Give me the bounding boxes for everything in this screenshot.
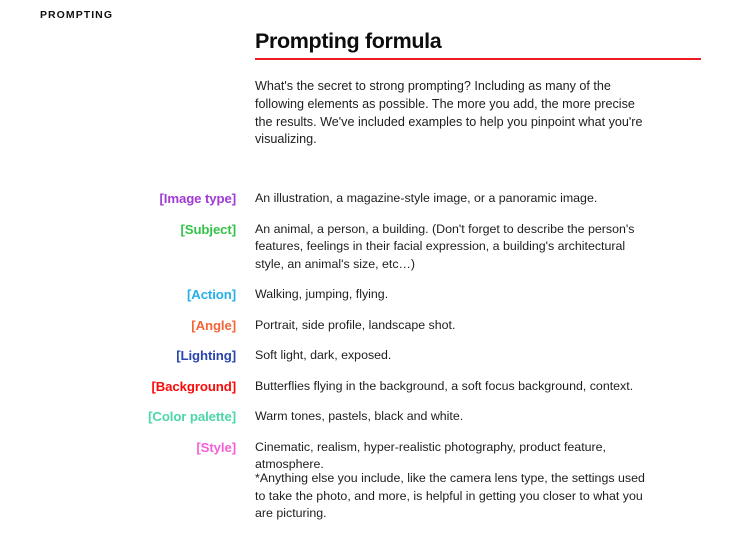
formula-row-label: [Color palette]: [0, 408, 236, 426]
prompting-formula-page: PROMPTING Prompting formula What's the s…: [0, 0, 750, 550]
formula-row: [Subject]An animal, a person, a building…: [0, 221, 750, 274]
formula-row: [Image type]An illustration, a magazine-…: [0, 190, 750, 208]
formula-row-description: Cinematic, realism, hyper-realistic phot…: [236, 439, 656, 474]
formula-row-description: Walking, jumping, flying.: [236, 286, 656, 304]
formula-row-description: Warm tones, pastels, black and white.: [236, 408, 656, 426]
formula-row-description: Portrait, side profile, landscape shot.: [236, 317, 656, 335]
formula-row-description: Soft light, dark, exposed.: [236, 347, 656, 365]
formula-row: [Lighting]Soft light, dark, exposed.: [0, 347, 750, 365]
formula-row-label: [Angle]: [0, 317, 236, 335]
formula-row-label: [Image type]: [0, 190, 236, 208]
formula-row-label: [Style]: [0, 439, 236, 457]
intro-paragraph: What's the secret to strong prompting? I…: [255, 78, 655, 149]
formula-row: [Action]Walking, jumping, flying.: [0, 286, 750, 304]
title-underline-rule: [255, 58, 701, 60]
footnote-text: *Anything else you include, like the cam…: [255, 470, 649, 523]
formula-row-label: [Lighting]: [0, 347, 236, 365]
formula-row: [Style]Cinematic, realism, hyper-realist…: [0, 439, 750, 474]
header-block: Prompting formula What's the secret to s…: [255, 28, 701, 149]
formula-row: [Color palette]Warm tones, pastels, blac…: [0, 408, 750, 426]
formula-rows-list: [Image type]An illustration, a magazine-…: [0, 190, 750, 487]
formula-row: [Background]Butterflies flying in the ba…: [0, 378, 750, 396]
formula-row-label: [Subject]: [0, 221, 236, 239]
section-eyebrow-label: PROMPTING: [40, 9, 113, 21]
formula-row-description: An illustration, a magazine-style image,…: [236, 190, 656, 208]
formula-row-label: [Action]: [0, 286, 236, 304]
page-title: Prompting formula: [255, 28, 701, 54]
formula-row-description: An animal, a person, a building. (Don't …: [236, 221, 656, 274]
formula-row-label: [Background]: [0, 378, 236, 396]
formula-row: [Angle]Portrait, side profile, landscape…: [0, 317, 750, 335]
formula-row-description: Butterflies flying in the background, a …: [236, 378, 656, 396]
